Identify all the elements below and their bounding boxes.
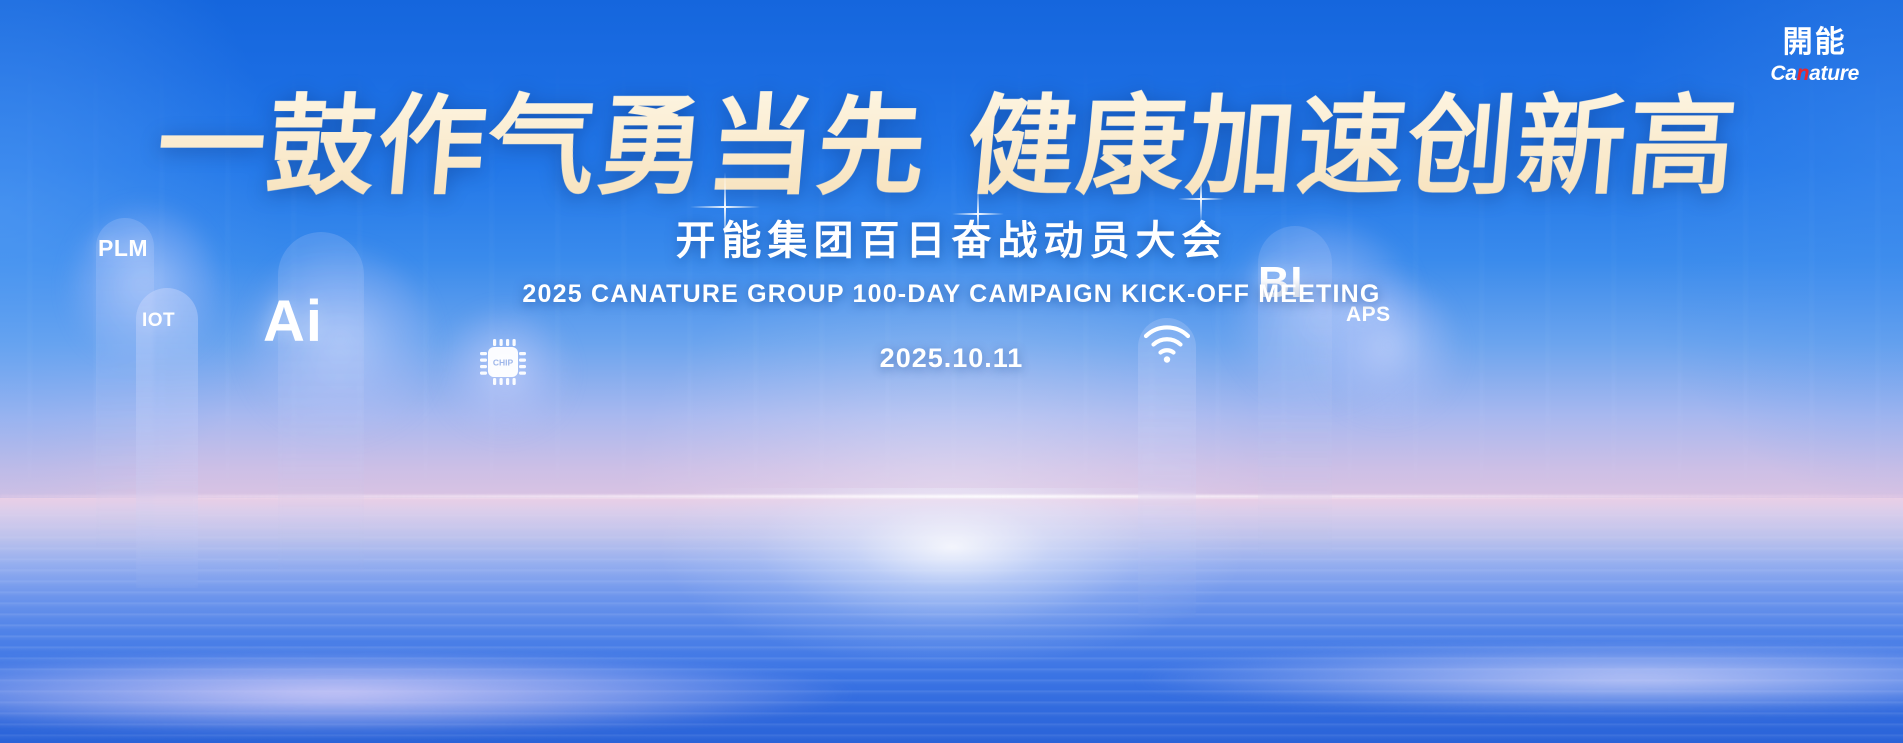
subtitle-english: 2025 CANATURE GROUP 100-DAY CAMPAIGN KIC… xyxy=(0,280,1903,309)
logo-en-pre: Ca xyxy=(1770,62,1796,85)
logo-en-accent: n xyxy=(1797,62,1810,85)
calligraphy-right: 健康加速创新高 xyxy=(962,84,1743,210)
subtitle-chinese: 开能集团百日奋战动员大会 xyxy=(0,208,1903,266)
hero-calligraphy-title: 一鼓作气勇当先健康加速创新高 xyxy=(0,0,1903,202)
logo-english-name: Canature xyxy=(1770,63,1859,84)
brand-logo[interactable]: 開能 Canature xyxy=(1770,28,1859,84)
banner-content: 一鼓作气勇当先健康加速创新高 开能集团百日奋战动员大会 2025 CANATUR… xyxy=(0,0,1903,374)
logo-chinese-name: 開能 xyxy=(1770,28,1859,58)
event-banner: PLM IOT Ai xyxy=(0,0,1903,743)
calligraphy-left: 一鼓作气勇当先 xyxy=(152,84,933,210)
event-date: 2025.10.11 xyxy=(0,343,1903,374)
logo-en-post: ature xyxy=(1809,62,1859,85)
